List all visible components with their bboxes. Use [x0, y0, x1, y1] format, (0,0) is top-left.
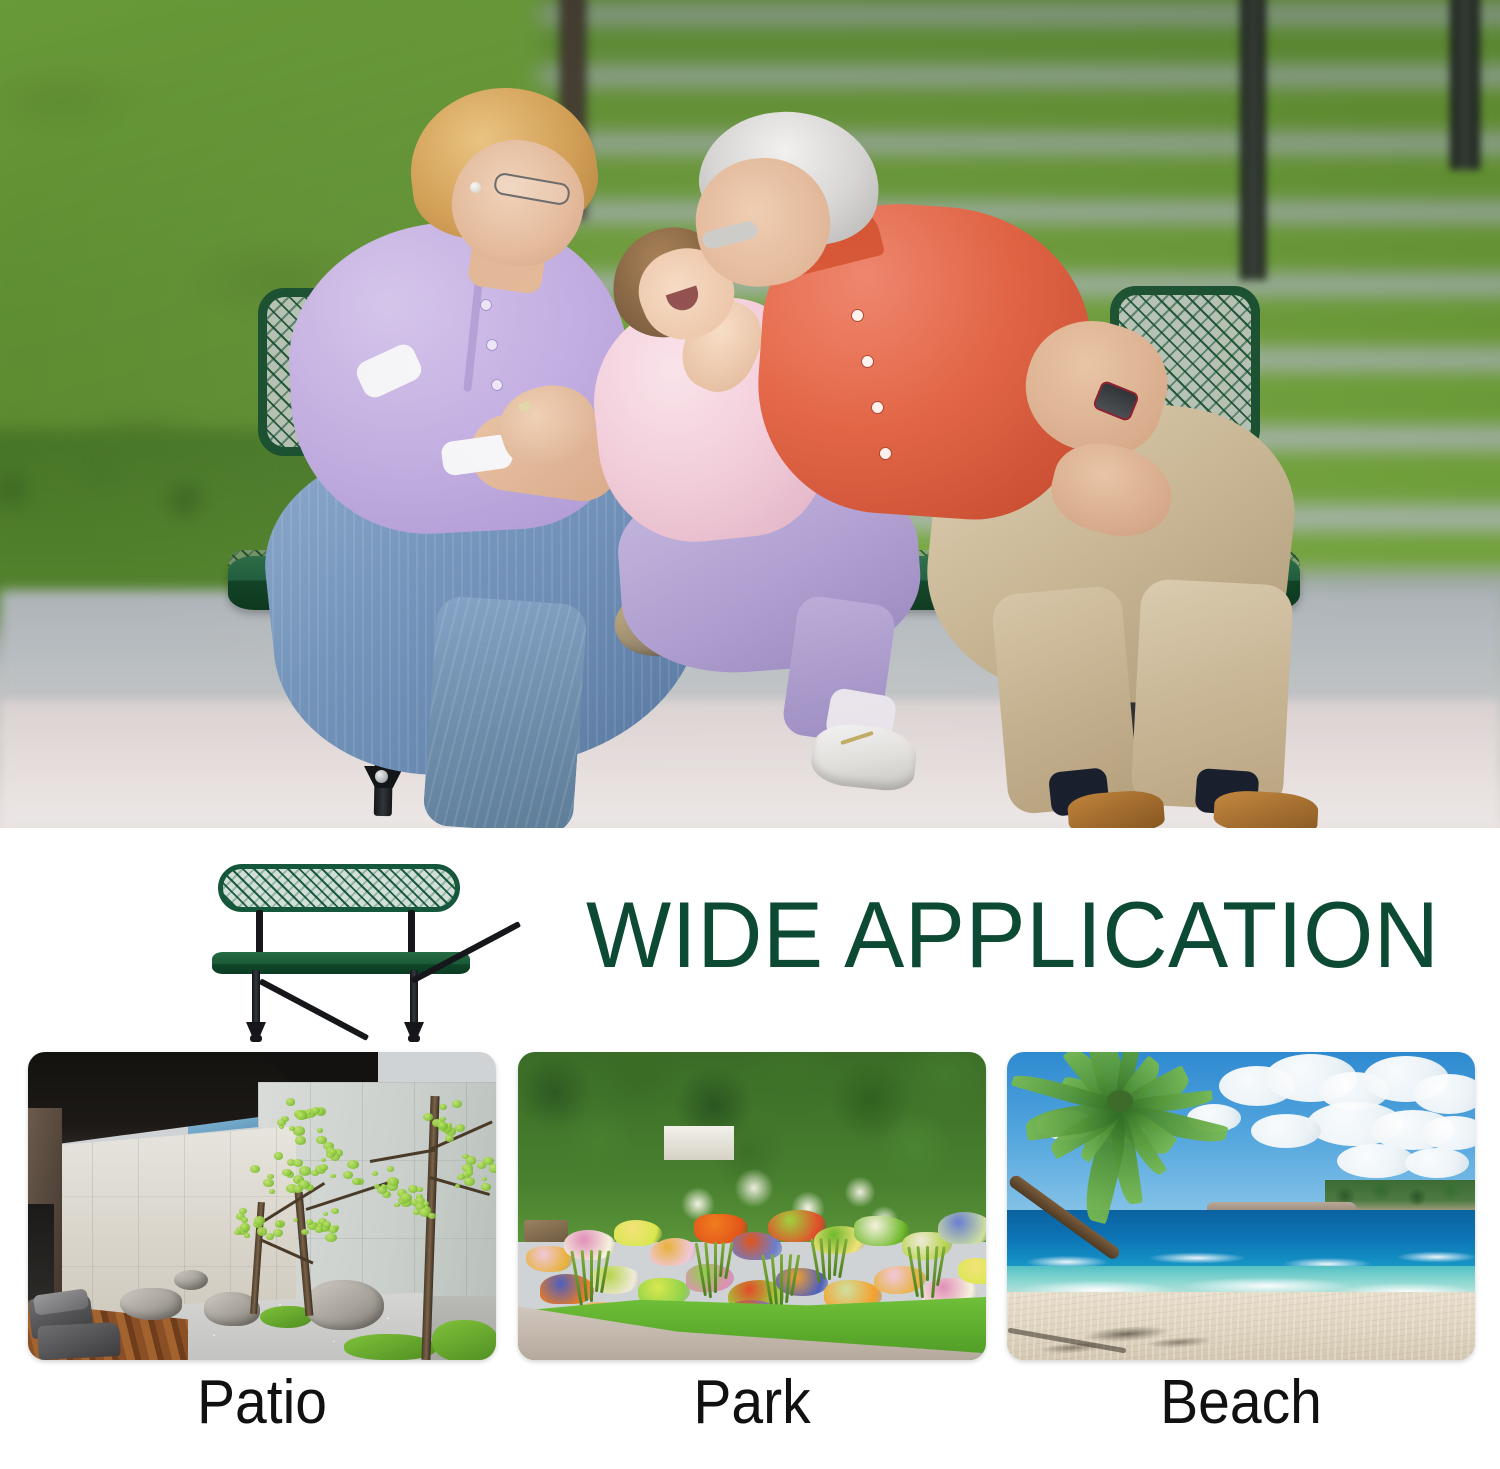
grass-spike: [926, 1246, 929, 1281]
leaf-cluster: [423, 1113, 433, 1121]
cloud: [1337, 1144, 1415, 1178]
leaf-cluster: [352, 1178, 361, 1185]
leaf-cluster: [275, 1221, 282, 1226]
leaf-cluster: [457, 1174, 464, 1180]
cloud: [1413, 1074, 1475, 1114]
leaf-cluster: [244, 1233, 249, 1237]
leaf-cluster: [439, 1104, 447, 1110]
leaf-cluster: [325, 1233, 337, 1242]
leaf-cluster: [489, 1164, 496, 1172]
flower-clump: [614, 1220, 662, 1246]
park-scene: [518, 1052, 986, 1360]
park-building: [664, 1126, 734, 1160]
grass-spike: [590, 1250, 593, 1302]
leaf-cluster: [317, 1128, 322, 1132]
leaf-cluster: [377, 1186, 387, 1194]
leaf-cluster: [239, 1208, 247, 1214]
patio-boulder: [306, 1280, 384, 1330]
leaf-cluster: [423, 1201, 429, 1206]
product-foot: [404, 1022, 424, 1036]
leaf-cluster: [293, 1185, 303, 1193]
leaf-cluster: [254, 1216, 265, 1225]
product-infographic-page: WIDE APPLICATION: [0, 0, 1500, 1469]
scenario-card-grid: Patio Park: [0, 1040, 1500, 1469]
product-post: [256, 910, 263, 958]
earring-icon: [470, 182, 481, 193]
button-detail: [492, 380, 502, 390]
leaf-cluster: [481, 1183, 491, 1191]
bench-product-illustration: [212, 862, 502, 1022]
patio-boulder: [174, 1270, 208, 1290]
cloud: [1405, 1148, 1469, 1178]
page-title: WIDE APPLICATION: [586, 888, 1450, 982]
palm-crown: [1107, 1090, 1133, 1112]
leaf-cluster: [306, 1219, 313, 1225]
leaf-cluster: [316, 1136, 327, 1144]
button-detail: [487, 340, 497, 350]
product-backrest: [218, 864, 460, 912]
leaf-cluster: [301, 1229, 309, 1235]
leaf-cluster: [269, 1189, 275, 1193]
leaf-cluster: [452, 1100, 462, 1108]
grass-spike: [780, 1254, 783, 1308]
leaf-cluster: [319, 1164, 328, 1171]
cloud: [1251, 1114, 1321, 1148]
grass-spike: [828, 1238, 831, 1280]
leaf-cluster: [315, 1226, 323, 1233]
leaf-cluster: [343, 1171, 353, 1179]
leaf-cluster: [387, 1177, 398, 1186]
product-brace: [259, 978, 370, 1041]
caption-beach: Beach: [1026, 1370, 1457, 1435]
leaf-cluster: [417, 1187, 423, 1191]
button-detail: [481, 300, 491, 310]
leaf-cluster: [293, 1126, 305, 1136]
scenario-card-park[interactable]: [518, 1052, 986, 1360]
scenario-card-patio[interactable]: [28, 1052, 496, 1360]
leaf-cluster: [372, 1171, 378, 1176]
bolt-icon: [375, 770, 388, 783]
leaf-cluster: [241, 1217, 249, 1223]
hero-lifestyle-photo: [0, 0, 1500, 828]
flower-clump: [938, 1212, 986, 1244]
leaf-cluster: [293, 1159, 303, 1167]
leaf-cluster: [440, 1117, 446, 1122]
button-detail: [862, 356, 873, 367]
leaf-cluster: [400, 1193, 412, 1203]
leaf-cluster: [295, 1136, 306, 1145]
patio-scene: [28, 1052, 496, 1360]
patio-window: [28, 1204, 54, 1300]
patio-moss: [432, 1320, 496, 1360]
leaf-cluster: [438, 1122, 447, 1129]
flower-clump: [650, 1238, 696, 1266]
leaf-cluster: [240, 1223, 250, 1231]
button-detail: [872, 402, 883, 413]
headline-band: WIDE APPLICATION: [0, 828, 1500, 1040]
patio-lounge-chair: [37, 1322, 121, 1360]
scenario-card-beach[interactable]: [1007, 1052, 1475, 1360]
button-detail: [880, 448, 891, 459]
grass-spike: [714, 1242, 717, 1293]
grandmother-lower-leg: [422, 595, 588, 828]
leaf-cluster: [466, 1170, 473, 1176]
product-post: [408, 910, 415, 958]
patio-boulder: [120, 1288, 182, 1320]
caption-park: Park: [537, 1370, 968, 1435]
leaf-cluster: [321, 1158, 326, 1162]
beach-scene: [1007, 1052, 1475, 1360]
leaf-cluster: [234, 1230, 241, 1236]
leaf-cluster: [299, 1166, 311, 1175]
leaf-cluster: [273, 1229, 283, 1237]
leaf-cluster: [482, 1177, 487, 1181]
product-foot: [246, 1022, 266, 1036]
leaf-cluster: [267, 1174, 274, 1179]
caption-patio: Patio: [47, 1370, 478, 1435]
button-detail: [852, 310, 863, 321]
